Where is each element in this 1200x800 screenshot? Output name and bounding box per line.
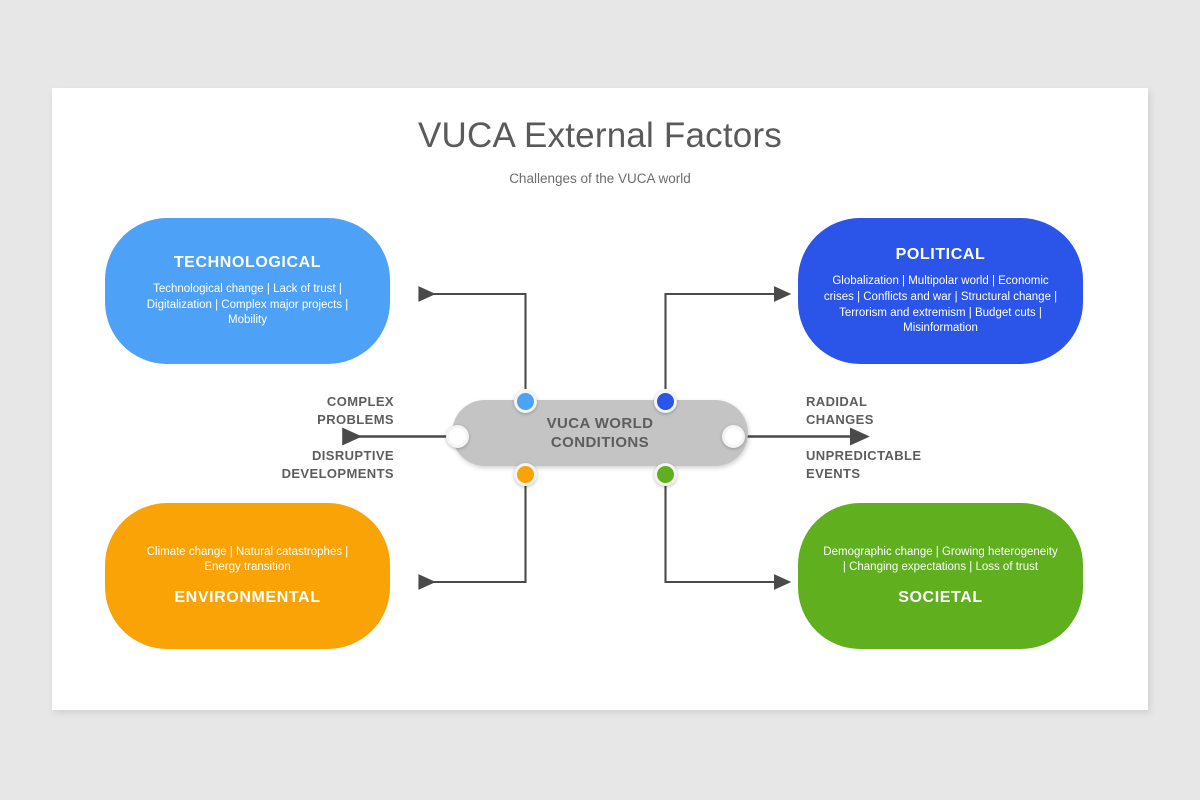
factor-body-political: Globalization | Multipolar world | Econo… (822, 274, 1059, 337)
factor-box-societal[interactable]: Demographic change | Growing heterogenei… (798, 503, 1083, 649)
factor-box-political[interactable]: POLITICAL Globalization | Multipolar wor… (798, 218, 1083, 364)
page-title: VUCA External Factors (52, 116, 1148, 156)
connector-technological (420, 294, 526, 389)
node-dot-right[interactable] (722, 425, 745, 448)
factor-box-technological[interactable]: TECHNOLOGICAL Technological change | Lac… (105, 218, 390, 364)
node-dot-left[interactable] (446, 425, 469, 448)
side-label-complex-problems: COMPLEX PROBLEMS (317, 393, 394, 428)
node-dot-political[interactable] (654, 390, 677, 413)
side-label-disruptive-developments: DISRUPTIVE DEVELOPMENTS (282, 447, 394, 482)
page-subtitle: Challenges of the VUCA world (52, 171, 1148, 186)
vuca-hub-label: VUCA WORLD CONDITIONS (547, 414, 654, 452)
node-dot-societal[interactable] (654, 463, 677, 486)
factor-title-political: POLITICAL (896, 245, 986, 264)
slide-card: VUCA External Factors Challenges of the … (52, 88, 1148, 710)
node-dot-technological[interactable] (514, 390, 537, 413)
factor-body-technological: Technological change | Lack of trust | D… (129, 282, 366, 329)
connector-societal (666, 485, 775, 582)
connector-political (666, 294, 775, 389)
factor-box-environmental[interactable]: Climate change | Natural catastrophes | … (105, 503, 390, 649)
factor-body-societal: Demographic change | Growing heterogenei… (822, 545, 1059, 576)
vuca-hub[interactable]: VUCA WORLD CONDITIONS (452, 400, 748, 466)
factor-body-environmental: Climate change | Natural catastrophes | … (129, 545, 366, 576)
side-label-unpredictable-events: UNPREDICTABLE EVENTS (806, 447, 921, 482)
factor-title-societal: SOCIETAL (898, 588, 983, 607)
factor-title-technological: TECHNOLOGICAL (174, 253, 321, 272)
node-dot-environmental[interactable] (514, 463, 537, 486)
factor-title-environmental: ENVIRONMENTAL (174, 588, 320, 607)
side-label-radical-changes: RADIDAL CHANGES (806, 393, 874, 428)
connector-environmental (420, 485, 526, 582)
